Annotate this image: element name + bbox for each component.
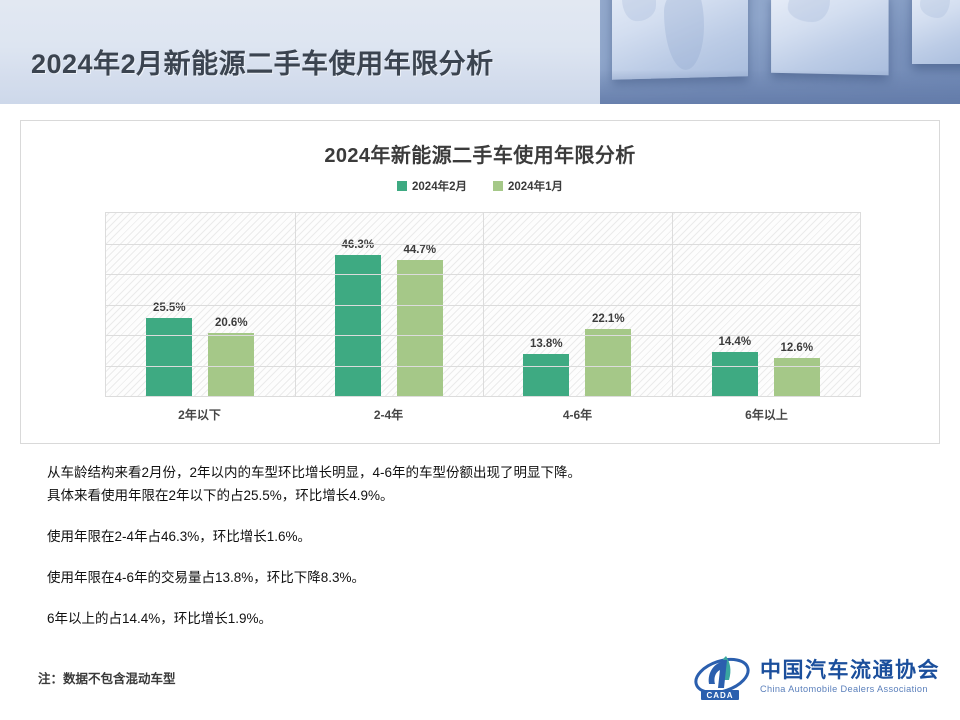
paragraph-1: 从车龄结构来看2月份，2年以内的车型环比增长明显，4-6年的车型份额出现了明显下… [47,463,907,484]
blue-cubes-photo [600,0,960,104]
legend-item-series-2[interactable]: 2024年1月 [493,178,563,194]
analysis-text: 从车龄结构来看2月份，2年以内的车型环比增长明显，4-6年的车型份额出现了明显下… [47,463,907,630]
bar-rect[interactable] [397,260,443,396]
logo-text-cn: 中国汽车流通协会 [760,660,940,682]
grid-line-vertical [483,213,484,396]
legend-swatch-icon [493,181,503,191]
cube-decor-3 [912,0,960,64]
bar-rect[interactable] [208,333,254,396]
chart-title: 2024年新能源二手车使用年限分析 [21,139,939,168]
bar-rect[interactable] [585,329,631,396]
paragraph-4: 使用年限在4-6年的交易量占13.8%，环比下降8.3%。 [47,568,907,589]
legend-swatch-icon [397,181,407,191]
bar-rect[interactable] [523,354,569,396]
page-title: 2024年2月新能源二手车使用年限分析 [31,42,494,81]
bar-value-label: 20.6% [215,317,248,329]
grid-line-vertical [295,213,296,396]
bar-value-label: 12.6% [780,342,813,354]
grid-line-vertical [672,213,673,396]
bar-rect[interactable] [712,352,758,396]
legend-label: 2024年1月 [508,178,563,194]
chart-card: 2024年新能源二手车使用年限分析 2024年2月 2024年1月 25.5%2… [20,120,940,444]
x-axis-labels: 2年以下2-4年4-6年6年以上 [105,406,861,423]
legend-item-series-1[interactable]: 2024年2月 [397,178,467,194]
bar-value-label: 13.8% [530,338,563,350]
logo-text-en: China Automobile Dealers Association [760,684,940,694]
bar-value-label: 22.1% [592,313,625,325]
paragraph-2: 具体来看使用年限在2年以下的占25.5%，环比增长4.9%。 [47,486,907,507]
cube-decor-2 [771,0,888,75]
x-axis-tick-label: 6年以上 [672,406,861,423]
x-axis-tick-label: 4-6年 [483,406,672,423]
x-axis-tick-label: 2年以下 [105,406,294,423]
svg-text:CADA: CADA [706,691,733,700]
x-axis-tick-label: 2-4年 [294,406,483,423]
chart-legend: 2024年2月 2024年1月 [21,178,939,194]
cada-logo-icon: CADA [693,650,751,704]
world-map-texture-icon [622,0,656,22]
slide: 2024年2月新能源二手车使用年限分析 2024年新能源二手车使用年限分析 20… [0,0,960,720]
bar-rect[interactable] [146,318,192,396]
footnote: 注：数据不包含混动车型 [38,668,176,687]
bar-value-label: 44.7% [403,244,436,256]
paragraph-5: 6年以上的占14.4%，环比增长1.9%。 [47,609,907,630]
cube-decor-1 [612,0,748,80]
bar-rect[interactable] [774,358,820,396]
world-map-texture-icon [664,0,704,70]
bar-value-label: 14.4% [718,336,751,348]
cada-logo: CADA 中国汽车流通协会 China Automobile Dealers A… [693,650,940,704]
bar-value-label: 25.5% [153,302,186,314]
bar-value-label: 46.3% [341,239,374,251]
world-map-texture-icon [788,0,830,22]
legend-label: 2024年2月 [412,178,467,194]
paragraph-3: 使用年限在2-4年占46.3%，环比增长1.6%。 [47,527,907,548]
chart-plot-area: 25.5%20.6%46.3%44.7%13.8%22.1%14.4%12.6% [105,212,861,397]
world-map-texture-icon [920,0,950,18]
slide-header: 2024年2月新能源二手车使用年限分析 [0,0,960,104]
bar-rect[interactable] [335,255,381,396]
